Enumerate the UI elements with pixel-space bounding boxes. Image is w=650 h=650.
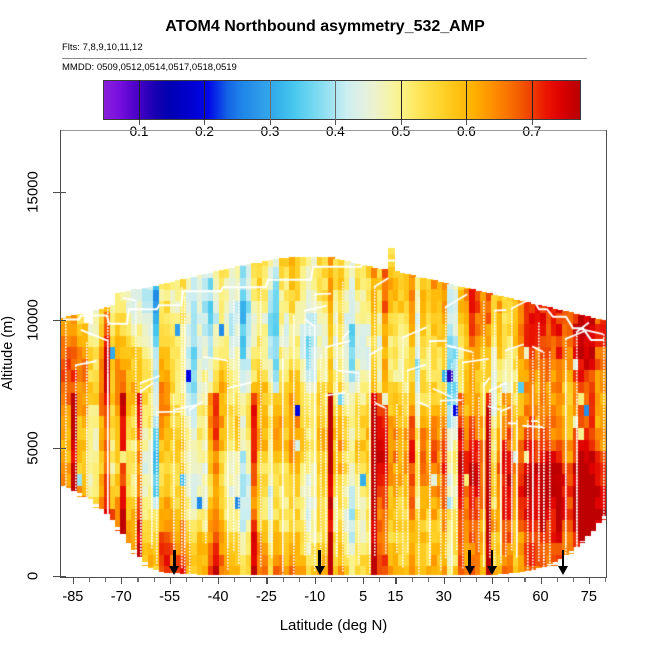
x-axis-tick	[331, 577, 332, 582]
x-axis-tick	[121, 577, 122, 584]
colorbar-tick	[401, 80, 402, 120]
x-axis-tick	[363, 577, 364, 584]
flights-label: Flts: 7,8,9,10,11,12	[62, 42, 143, 53]
x-axis-tick	[89, 577, 90, 582]
header-divider	[62, 58, 587, 59]
y-axis-tick	[53, 192, 60, 193]
colorbar: 0.10.20.30.40.50.60.7	[103, 80, 581, 120]
x-axis-tick-label: 30	[436, 589, 452, 605]
y-axis-tick-label: 15000	[25, 171, 42, 213]
x-axis-tick	[186, 577, 187, 582]
y-axis-tick-inner	[60, 448, 66, 449]
x-axis-tick	[557, 577, 558, 582]
y-axis-tick-inner	[60, 192, 66, 193]
y-axis-tick-inner	[60, 576, 66, 577]
colorbar-tick	[270, 80, 271, 120]
y-axis-tick	[53, 576, 60, 577]
x-axis-tick-label: 75	[581, 589, 597, 605]
x-axis-tick	[541, 577, 542, 584]
x-axis-tick-label: -55	[159, 589, 180, 605]
x-axis-tick	[266, 577, 267, 584]
x-axis-tick	[250, 577, 251, 582]
x-axis-tick	[73, 577, 74, 584]
heatmap-canvas	[61, 131, 606, 577]
x-axis-tick	[395, 577, 396, 584]
x-axis-tick-label: 60	[532, 589, 548, 605]
x-axis-tick-label: -70	[111, 589, 132, 605]
y-axis-tick-inner	[60, 320, 66, 321]
colorbar-tick	[335, 80, 336, 120]
y-axis-title: Altitude (m)	[0, 316, 16, 390]
x-axis-tick-label: 15	[387, 589, 403, 605]
colorbar-tick	[532, 80, 533, 120]
dates-label: MMDD: 0509,0512,0514,0517,0518,0519	[62, 62, 237, 73]
x-axis-tick	[492, 577, 493, 584]
figure-title: ATOM4 Northbound asymmetry_532_AMP	[0, 18, 650, 36]
x-axis-tick	[347, 577, 348, 582]
x-axis-tick	[508, 577, 509, 582]
figure-root: ATOM4 Northbound asymmetry_532_AMP Flts:…	[0, 0, 650, 650]
x-axis-tick	[573, 577, 574, 582]
x-axis-tick	[202, 577, 203, 582]
x-axis-tick-label: -85	[62, 589, 83, 605]
x-axis-tick	[154, 577, 155, 582]
x-axis-tick	[379, 577, 380, 582]
x-axis-tick	[524, 577, 525, 582]
x-axis-tick	[137, 577, 138, 582]
x-axis-tick-label: 45	[484, 589, 500, 605]
y-axis-tick	[53, 448, 60, 449]
x-axis-tick	[412, 577, 413, 582]
y-axis-tick-label: 0	[25, 572, 42, 580]
colorbar-tick	[139, 80, 140, 120]
x-axis-tick	[476, 577, 477, 582]
x-axis-tick	[315, 577, 316, 584]
x-axis-tick-label: -10	[304, 589, 325, 605]
x-axis-tick	[105, 577, 106, 582]
colorbar-tick	[466, 80, 467, 120]
y-axis-tick-label: 5000	[25, 431, 42, 464]
plot-area: -85-70-55-40-25-1051530456075 Latitude (…	[60, 130, 607, 578]
x-axis-title: Latitude (deg N)	[60, 617, 607, 634]
y-axis-tick-label: 10000	[25, 299, 42, 341]
x-axis-tick	[218, 577, 219, 584]
x-axis-tick-label: 5	[359, 589, 367, 605]
x-axis-tick	[460, 577, 461, 582]
axis-right	[606, 130, 607, 578]
x-axis-tick	[444, 577, 445, 584]
x-axis-tick	[589, 577, 590, 584]
colorbar-tick	[204, 80, 205, 120]
y-axis-tick	[53, 320, 60, 321]
colorbar-ticks: 0.10.20.30.40.50.60.7	[103, 80, 581, 120]
x-axis-tick	[299, 577, 300, 582]
x-axis-tick	[170, 577, 171, 584]
x-axis-tick	[428, 577, 429, 582]
axis-top	[60, 130, 607, 131]
x-axis-tick	[605, 577, 606, 582]
x-axis-tick	[234, 577, 235, 582]
x-axis-tick	[283, 577, 284, 582]
axis-left	[60, 130, 61, 578]
x-axis-tick-label: -40	[208, 589, 229, 605]
x-axis-tick-label: -25	[256, 589, 277, 605]
